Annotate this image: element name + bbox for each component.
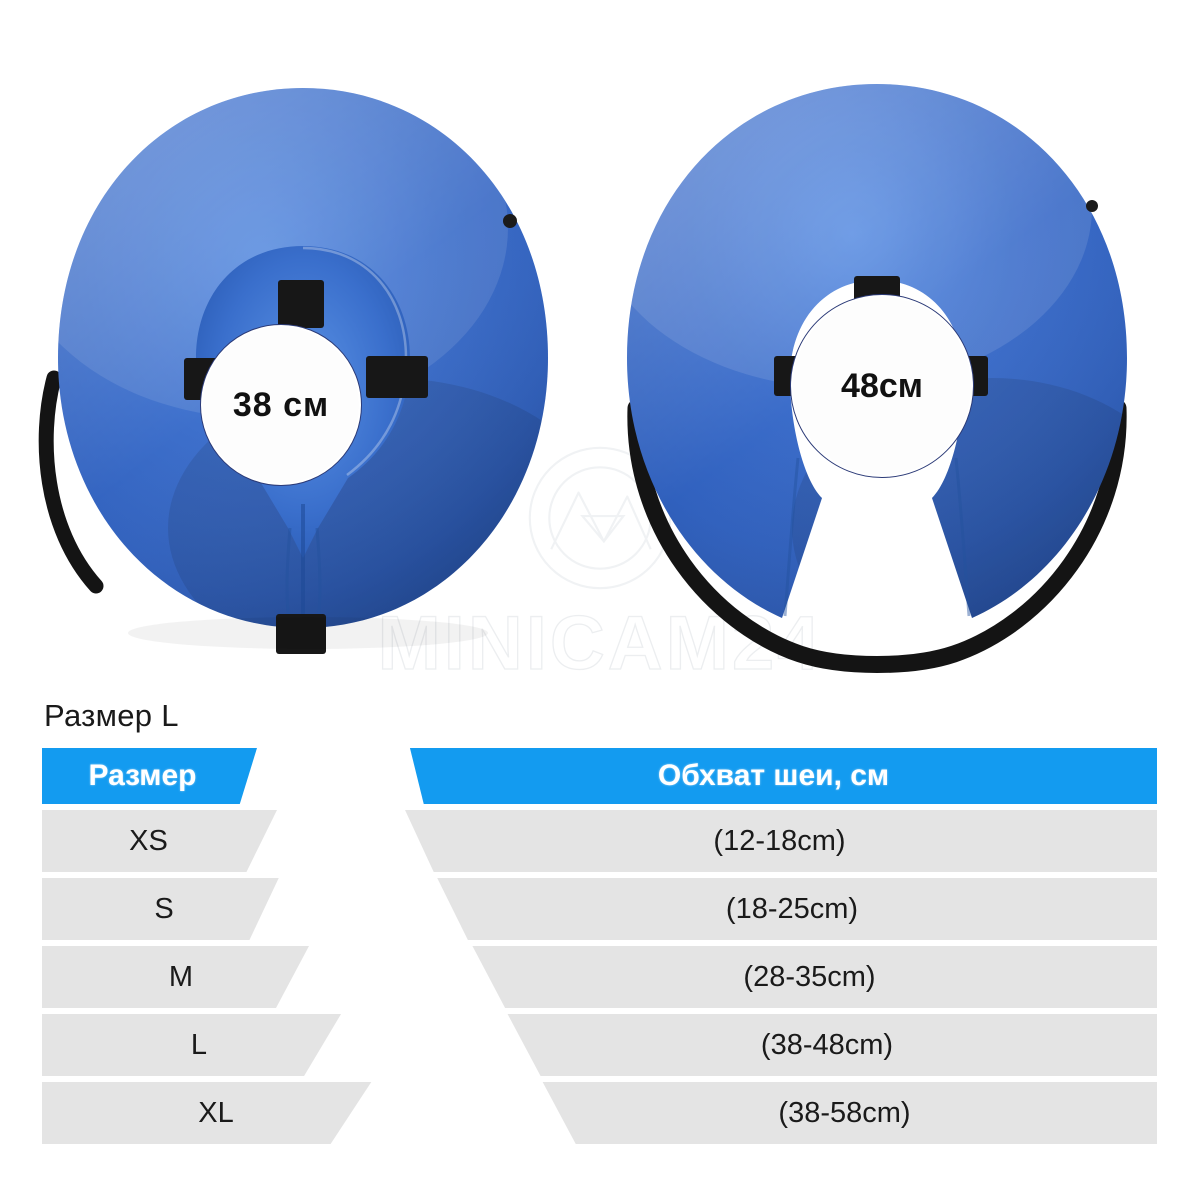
row-cell-size: M	[42, 946, 342, 1008]
size-badge-right: 48см	[790, 294, 974, 478]
velcro-strap-top	[278, 280, 324, 328]
product-photo-area: MINICAM24	[0, 0, 1200, 690]
row-cell-neck: (18-25cm)	[427, 878, 1157, 940]
size-table: Размер Обхват шеи, см XS (12-18cm) S (18…	[42, 748, 1157, 1148]
row-cell-neck: (28-35cm)	[462, 946, 1157, 1008]
row-cell-neck: (12-18cm)	[402, 810, 1157, 872]
header-cell-size: Размер	[42, 748, 257, 804]
row-cell-size: L	[42, 1014, 378, 1076]
product-image-left: 38 см	[18, 58, 588, 668]
velcro-strap-right	[366, 356, 428, 398]
row-cell-size: XS	[42, 810, 277, 872]
header-cell-neck: Обхват шеи, см	[390, 748, 1157, 804]
row-cell-neck: (38-58cm)	[532, 1082, 1157, 1144]
size-chart-section: Размер L Размер Обхват шеи, см XS (12-18…	[0, 690, 1200, 1200]
table-row: M (28-35cm)	[42, 946, 1157, 1008]
size-badge-left: 38 см	[200, 324, 362, 486]
table-row: L (38-48cm)	[42, 1014, 1157, 1076]
product-image-right: 48см	[592, 58, 1162, 678]
row-cell-size: XL	[42, 1082, 412, 1144]
chart-title: Размер L	[44, 698, 179, 734]
row-cell-size: S	[42, 878, 308, 940]
row-cell-neck: (38-48cm)	[497, 1014, 1157, 1076]
table-row: XL (38-58cm)	[42, 1082, 1157, 1144]
table-row: S (18-25cm)	[42, 878, 1157, 940]
table-header-row: Размер Обхват шеи, см	[42, 748, 1157, 804]
table-row: XS (12-18cm)	[42, 810, 1157, 872]
